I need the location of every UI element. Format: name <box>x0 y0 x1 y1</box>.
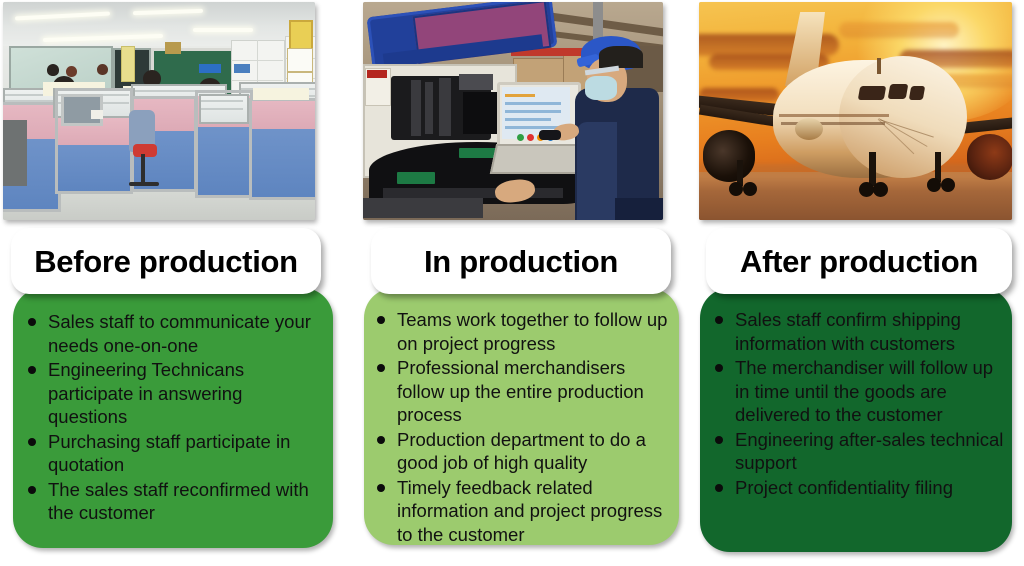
bullet-dot-icon <box>715 484 723 492</box>
list-item-text: Teams work together to follow up on proj… <box>397 309 667 354</box>
list-item: Production department to do a good job o… <box>372 428 669 475</box>
title-card-after-production: After production <box>706 228 1012 294</box>
bullet-dot-icon <box>377 484 385 492</box>
list-item: Sales staff to communicate your needs on… <box>23 310 319 357</box>
bullet-dot-icon <box>28 438 36 446</box>
title-card-in-production: In production <box>371 228 671 294</box>
panel-before-production: Sales staff to communicate your needs on… <box>13 288 333 548</box>
bullet-dot-icon <box>28 486 36 494</box>
column-title: In production <box>424 246 618 277</box>
bullet-dot-icon <box>377 316 385 324</box>
list-item: Project confidentiality filing <box>710 476 1004 500</box>
list-item: Engineering Technicans participate in an… <box>23 358 319 429</box>
bullet-dot-icon <box>377 436 385 444</box>
list-item: Professional merchandisers follow up the… <box>372 356 669 427</box>
list-item: Timely feedback related information and … <box>372 476 669 547</box>
list-item: The sales staff reconfirmed with the cus… <box>23 478 319 525</box>
list-item: Sales staff confirm shipping information… <box>710 308 1004 355</box>
list-item-text: Production department to do a good job o… <box>397 429 646 474</box>
list-item-text: The sales staff reconfirmed with the cus… <box>48 479 309 524</box>
panel-after-production: Sales staff confirm shipping information… <box>700 288 1012 552</box>
list-item-text: Project confidentiality filing <box>735 477 953 498</box>
list-item-text: Sales staff confirm shipping information… <box>735 309 961 354</box>
bullet-list-after-production: Sales staff confirm shipping information… <box>710 308 1004 499</box>
bullet-dot-icon <box>28 318 36 326</box>
airplane-sunset-photo <box>699 2 1012 220</box>
office-workspace-photo <box>3 2 315 220</box>
bullet-dot-icon <box>715 436 723 444</box>
column-title: After production <box>740 246 978 277</box>
list-item-text: Professional merchandisers follow up the… <box>397 357 644 425</box>
list-item-text: Engineering after-sales technical suppor… <box>735 429 1003 474</box>
bullet-dot-icon <box>715 316 723 324</box>
infographic-stage: Before production Sales staff to communi… <box>0 0 1024 566</box>
title-card-before-production: Before production <box>11 228 321 294</box>
list-item: The merchandiser will follow up in time … <box>710 356 1004 427</box>
bullet-list-in-production: Teams work together to follow up on proj… <box>372 308 669 546</box>
list-item-text: The merchandiser will follow up in time … <box>735 357 993 425</box>
list-item-text: Sales staff to communicate your needs on… <box>48 311 311 356</box>
list-item: Teams work together to follow up on proj… <box>372 308 669 355</box>
bullet-dot-icon <box>377 364 385 372</box>
list-item-text: Engineering Technicans participate in an… <box>48 359 244 427</box>
column-title: Before production <box>34 246 298 277</box>
list-item-text: Timely feedback related information and … <box>397 477 662 545</box>
panel-in-production: Teams work together to follow up on proj… <box>364 288 679 545</box>
list-item-text: Purchasing staff participate in quotatio… <box>48 431 290 476</box>
list-item: Engineering after-sales technical suppor… <box>710 428 1004 475</box>
bullet-dot-icon <box>715 364 723 372</box>
list-item: Purchasing staff participate in quotatio… <box>23 430 319 477</box>
bullet-list-before-production: Sales staff to communicate your needs on… <box>23 310 319 525</box>
factory-smt-machine-photo <box>363 2 663 220</box>
bullet-dot-icon <box>28 366 36 374</box>
